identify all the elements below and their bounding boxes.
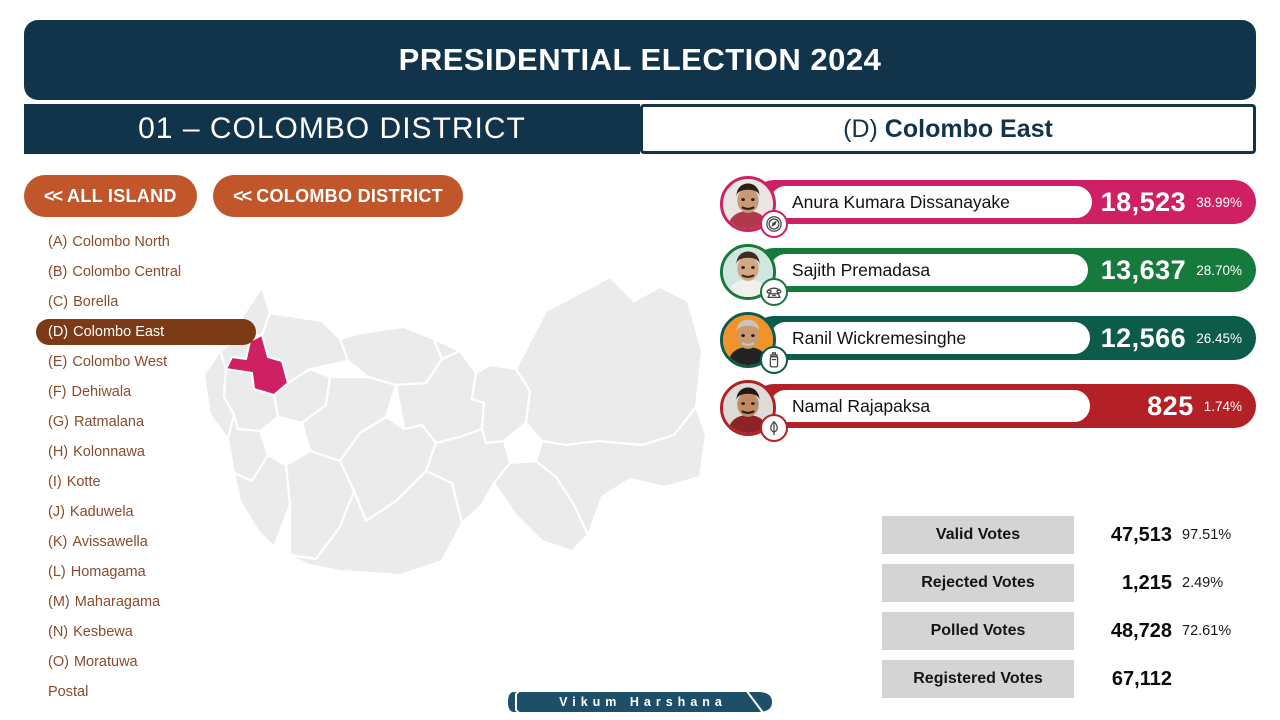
stat-percent: [1182, 660, 1256, 698]
candidate-percent: 1.74%: [1204, 399, 1242, 414]
division-item-label: Maharagama: [75, 594, 160, 610]
division-item-label: Kotte: [67, 474, 101, 490]
division-item-code: (G): [48, 414, 69, 430]
stat-percent: 72.61%: [1182, 612, 1256, 650]
stat-percent: 2.49%: [1182, 564, 1256, 602]
all-island-label: ALL ISLAND: [67, 186, 177, 207]
candidate-row[interactable]: 8251.74%Namal Rajapaksa: [716, 380, 1256, 436]
candidate-name: Anura Kumara Dissanayake: [792, 192, 1010, 213]
division-item-code: (D): [48, 324, 68, 340]
division-list-item[interactable]: (N)Kesbewa: [36, 619, 256, 645]
colombo-district-map[interactable]: [190, 265, 720, 595]
division-item-label: Kesbewa: [73, 624, 133, 640]
division-list-item[interactable]: (O)Moratuwa: [36, 649, 256, 675]
candidate-votes: 18,523: [1101, 187, 1187, 218]
candidate-row[interactable]: 18,52338.99%Anura Kumara Dissanayake: [716, 176, 1256, 232]
candidate-results: 18,52338.99%Anura Kumara Dissanayake13,6…: [716, 176, 1256, 448]
division-list-item[interactable]: (D)Colombo East: [36, 319, 256, 345]
division-code: (D): [843, 115, 878, 143]
division-item-code: (B): [48, 264, 67, 280]
gas-cylinder-icon: [760, 346, 788, 374]
candidate-name: Namal Rajapaksa: [792, 396, 930, 417]
colombo-district-label: COLOMBO DISTRICT: [256, 186, 443, 207]
compass-icon: [760, 210, 788, 238]
stat-label: Polled Votes: [882, 612, 1074, 650]
election-results-page: PRESIDENTIAL ELECTION 2024 01 – COLOMBO …: [0, 0, 1280, 720]
page-title-bar: PRESIDENTIAL ELECTION 2024: [24, 20, 1256, 100]
division-item-code: (N): [48, 624, 68, 640]
division-item-label: Colombo North: [72, 234, 170, 250]
division-item-label: Kaduwela: [70, 504, 134, 520]
division-item-code: (F): [48, 384, 67, 400]
division-item-label: Kolonnawa: [73, 444, 145, 460]
candidate-name-pill: Namal Rajapaksa: [768, 388, 1092, 424]
division-list-item[interactable]: Postal: [36, 679, 256, 705]
stat-value: 48,728: [1074, 612, 1172, 650]
division-list-item[interactable]: (B)Colombo Central: [36, 259, 256, 285]
division-list-item[interactable]: (I)Kotte: [36, 469, 256, 495]
watermark: Vikum Harshana: [506, 688, 774, 716]
candidate-row[interactable]: 12,56626.45%Ranil Wickremesinghe: [716, 312, 1256, 368]
division-item-code: (A): [48, 234, 67, 250]
colombo-district-button[interactable]: << COLOMBO DISTRICT: [213, 175, 463, 217]
candidate-name-pill: Sajith Premadasa: [768, 252, 1090, 288]
candidate-row[interactable]: 13,63728.70%Sajith Premadasa: [716, 244, 1256, 300]
candidate-name-pill: Anura Kumara Dissanayake: [768, 184, 1094, 220]
division-item-code: (I): [48, 474, 62, 490]
stat-value: 67,112: [1074, 660, 1172, 698]
stat-value: 1,215: [1074, 564, 1172, 602]
division-list-item[interactable]: (C)Borella: [36, 289, 256, 315]
division-list-item[interactable]: (H)Kolonnawa: [36, 439, 256, 465]
candidate-name-pill: Ranil Wickremesinghe: [768, 320, 1092, 356]
candidate-percent: 26.45%: [1196, 331, 1242, 346]
candidate-votes: 13,637: [1101, 255, 1187, 286]
division-item-label: Ratmalana: [74, 414, 144, 430]
division-item-code: (C): [48, 294, 68, 310]
candidate-name: Ranil Wickremesinghe: [792, 328, 966, 349]
division-item-code: (H): [48, 444, 68, 460]
flower-bud-icon: [760, 414, 788, 442]
division-list-item[interactable]: (J)Kaduwela: [36, 499, 256, 525]
stat-value: 47,513: [1074, 516, 1172, 554]
district-label: 01 – COLOMBO DISTRICT: [138, 112, 526, 146]
page-title: PRESIDENTIAL ELECTION 2024: [399, 42, 882, 78]
stat-row: Registered Votes67,112: [882, 660, 1256, 698]
stat-row: Valid Votes47,51397.51%: [882, 516, 1256, 554]
division-item-code: (M): [48, 594, 70, 610]
division-item-label: Avissawella: [72, 534, 148, 550]
vote-summary-table: Valid Votes47,51397.51%Rejected Votes1,2…: [882, 516, 1256, 708]
division-item-code: (L): [48, 564, 66, 580]
candidate-percent: 28.70%: [1196, 263, 1242, 278]
candidate-percent: 38.99%: [1196, 195, 1242, 210]
tab-district[interactable]: 01 – COLOMBO DISTRICT: [24, 104, 640, 154]
stat-label: Valid Votes: [882, 516, 1074, 554]
telephone-icon: [760, 278, 788, 306]
division-list-item[interactable]: (K)Avissawella: [36, 529, 256, 555]
division-list-item[interactable]: (G)Ratmalana: [36, 409, 256, 435]
tab-division[interactable]: (D) Colombo East: [640, 104, 1256, 154]
division-label: (D) Colombo East: [843, 115, 1053, 144]
stat-label: Rejected Votes: [882, 564, 1074, 602]
division-name: Colombo East: [885, 115, 1053, 143]
division-item-label: Homagama: [71, 564, 146, 580]
breadcrumb: 01 – COLOMBO DISTRICT (D) Colombo East: [24, 104, 1256, 154]
division-item-code: (J): [48, 504, 65, 520]
stat-label: Registered Votes: [882, 660, 1074, 698]
division-item-label: Colombo East: [73, 324, 164, 340]
division-item-label: Postal: [48, 684, 88, 700]
map-region-region-20: [516, 277, 702, 445]
candidate-votes: 12,566: [1101, 323, 1187, 354]
division-item-label: Moratuwa: [74, 654, 138, 670]
division-item-code: (E): [48, 354, 67, 370]
division-item-code: (O): [48, 654, 69, 670]
division-item-label: Colombo West: [72, 354, 167, 370]
all-island-button[interactable]: << ALL ISLAND: [24, 175, 197, 217]
division-item-label: Dehiwala: [72, 384, 132, 400]
chevron-left-icon: <<: [233, 186, 250, 207]
stat-percent: 97.51%: [1182, 516, 1256, 554]
division-list-item[interactable]: (A)Colombo North: [36, 229, 256, 255]
chevron-left-icon: <<: [44, 186, 61, 207]
candidate-name: Sajith Premadasa: [792, 260, 930, 281]
division-list: (A)Colombo North(B)Colombo Central(C)Bor…: [36, 229, 256, 709]
division-item-label: Colombo Central: [72, 264, 181, 280]
division-item-code: (K): [48, 534, 67, 550]
division-list-item[interactable]: (F)Dehiwala: [36, 379, 256, 405]
division-item-label: Borella: [73, 294, 118, 310]
division-list-item[interactable]: (L)Homagama: [36, 559, 256, 585]
watermark-text: Vikum Harshana: [506, 688, 774, 716]
candidate-votes: 825: [1147, 391, 1194, 422]
division-list-item[interactable]: (M)Maharagama: [36, 589, 256, 615]
division-list-item[interactable]: (E)Colombo West: [36, 349, 256, 375]
stat-row: Rejected Votes1,2152.49%: [882, 564, 1256, 602]
stat-row: Polled Votes48,72872.61%: [882, 612, 1256, 650]
nav-buttons: << ALL ISLAND << COLOMBO DISTRICT: [24, 175, 475, 217]
